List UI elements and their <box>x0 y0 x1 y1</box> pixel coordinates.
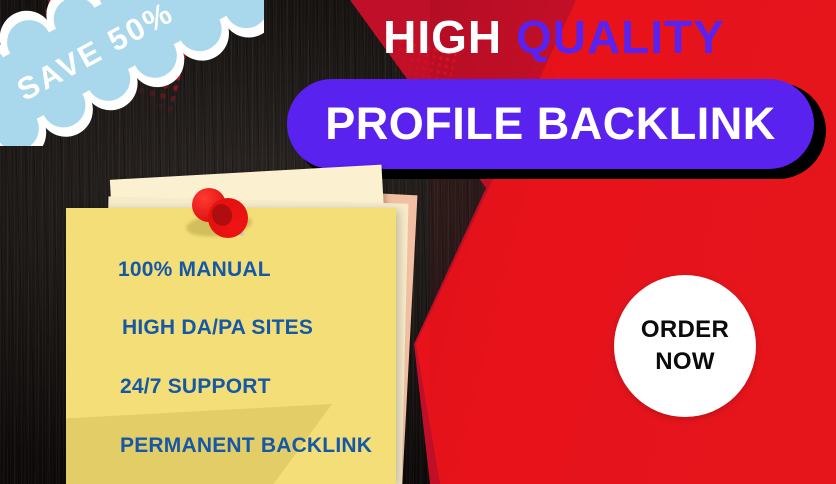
profile-backlink-pill: PROFILE BACKLINK <box>287 79 814 169</box>
pushpin-icon <box>186 186 266 262</box>
list-item: PERMANENT BACKLINK <box>120 434 414 458</box>
page-title: HIGH QUALITY <box>0 14 836 60</box>
list-item: 24/7 SUPPORT <box>120 375 414 399</box>
order-now-line1: ORDER <box>641 314 729 346</box>
feature-list: 100% MANUAL HIGH DA/PA SITES 24/7 SUPPOR… <box>66 224 414 484</box>
pill-label: PROFILE BACKLINK <box>325 98 776 150</box>
order-now-button[interactable]: ORDER NOW <box>614 275 756 417</box>
promo-banner: SAVE 50% HIGH QUALITY PROFILE BACKLINK 1… <box>0 0 836 484</box>
order-now-line2: NOW <box>655 346 715 378</box>
list-item: HIGH DA/PA SITES <box>122 316 414 340</box>
headline-word-quality: QUALITY <box>516 11 725 63</box>
list-item: 100% MANUAL <box>118 258 414 282</box>
headline-word-high: HIGH <box>383 11 502 63</box>
